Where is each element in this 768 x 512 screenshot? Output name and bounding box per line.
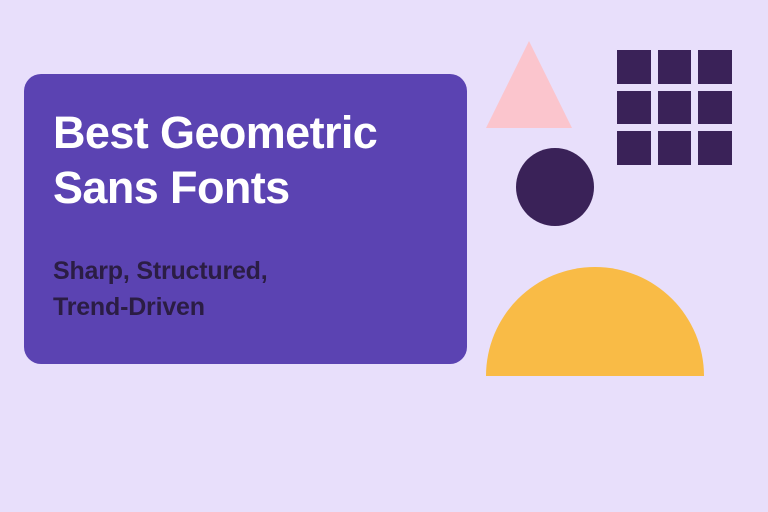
grid-cell: [617, 50, 651, 84]
page-subtitle: Sharp, Structured, Trend-Driven: [53, 253, 453, 325]
grid-cell: [617, 131, 651, 165]
grid-cell: [658, 50, 692, 84]
grid-cell: [698, 91, 732, 125]
grid-icon: [617, 50, 732, 165]
page-title: Best Geometric Sans Fonts: [53, 105, 453, 215]
grid-cell: [658, 91, 692, 125]
grid-cell: [617, 91, 651, 125]
poster-canvas: Best Geometric Sans Fonts Sharp, Structu…: [0, 0, 768, 512]
circle-icon: [516, 148, 594, 226]
grid-cell: [698, 50, 732, 84]
grid-cell: [658, 131, 692, 165]
triangle-icon: [486, 41, 572, 128]
hero-card: Best Geometric Sans Fonts Sharp, Structu…: [24, 74, 467, 364]
grid-cell: [698, 131, 732, 165]
semicircle-icon: [486, 267, 704, 376]
